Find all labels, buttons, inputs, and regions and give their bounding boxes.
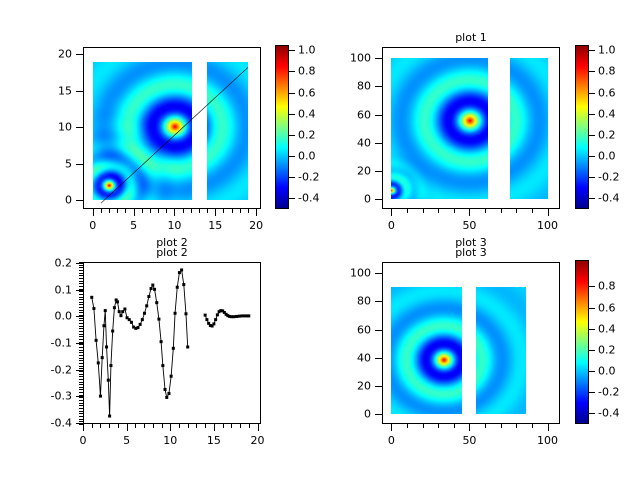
colorbar-tick <box>589 93 595 94</box>
data-point-marker <box>232 315 235 318</box>
data-point-marker <box>118 310 121 313</box>
subplot-plot-bottomleft: plot 205101520-0.4-0.3-0.2-0.10.00.10.2 <box>83 262 261 424</box>
data-point-marker <box>160 340 163 343</box>
colorbar-tick <box>589 156 595 157</box>
y-tick-label: -0.4 <box>32 416 72 429</box>
y-minor-tick <box>79 344 83 345</box>
x-tick <box>258 424 259 431</box>
data-point-marker <box>141 318 144 321</box>
colorbar-tick <box>589 413 595 414</box>
data-point-marker <box>97 361 100 364</box>
line-path <box>92 270 188 416</box>
x-minor-tick <box>109 424 110 428</box>
colorbar-tick-label: 0.0 <box>598 365 616 378</box>
y-minor-tick <box>79 289 83 290</box>
data-point-marker <box>155 301 158 304</box>
colorbar-gradient <box>276 46 288 208</box>
y-minor-tick <box>79 350 83 351</box>
x-minor-tick <box>179 424 180 428</box>
data-point-marker <box>107 379 110 382</box>
y-minor-tick <box>79 334 83 335</box>
colorbar-tick-label: 0.8 <box>598 280 616 293</box>
x-minor-tick <box>166 209 167 213</box>
y-tick-label: 5 <box>32 157 72 170</box>
data-point-marker <box>128 318 131 321</box>
x-minor-tick <box>516 424 517 428</box>
x-tick <box>256 209 257 216</box>
colorbar-gradient <box>576 261 588 423</box>
data-point-marker <box>212 322 215 325</box>
heatmap-image <box>391 287 462 414</box>
data-point-marker <box>172 347 175 350</box>
y-tick-label: -0.2 <box>32 363 72 376</box>
y-tick <box>375 301 382 302</box>
y-minor-tick <box>79 302 83 303</box>
y-minor-tick <box>79 376 83 377</box>
y-minor-tick <box>79 297 83 298</box>
x-minor-tick <box>501 424 502 428</box>
x-tick <box>391 424 392 431</box>
y-minor-tick <box>79 336 83 337</box>
data-point-marker <box>92 307 95 310</box>
y-minor-tick <box>79 304 83 305</box>
y-minor-tick <box>79 363 83 364</box>
data-point-marker <box>102 324 105 327</box>
x-minor-tick <box>196 424 197 428</box>
y-minor-tick <box>79 286 83 287</box>
y-tick-label: -0.1 <box>32 337 72 350</box>
data-point-marker <box>205 318 208 321</box>
y-minor-tick <box>79 326 83 327</box>
y-tick <box>375 386 382 387</box>
colorbar-tick <box>289 71 295 72</box>
colorbar-tick-label: 1.0 <box>598 44 616 57</box>
y-tick <box>76 200 83 201</box>
colorbar-tick <box>589 329 595 330</box>
data-point-marker <box>153 288 156 291</box>
x-minor-tick <box>125 209 126 213</box>
y-tick-label: 20 <box>331 164 371 177</box>
x-tick-label: 5 <box>130 219 137 232</box>
colorbar-tick-label: 0.6 <box>598 86 616 99</box>
colorbar-tick-label: -0.2 <box>298 171 319 184</box>
data-point-marker <box>170 375 173 378</box>
y-tick <box>375 86 382 87</box>
y-minor-tick <box>79 405 83 406</box>
data-point-marker <box>130 321 133 324</box>
data-point-marker <box>174 312 177 315</box>
colorbar-tick <box>589 198 595 199</box>
x-minor-tick <box>249 424 250 428</box>
data-point-marker <box>164 388 167 391</box>
x-minor-tick <box>407 209 408 213</box>
x-minor-tick <box>191 209 192 213</box>
diagonal-overlay-line <box>83 47 261 209</box>
colorbar-tick-label: 0.2 <box>598 343 616 356</box>
y-minor-tick <box>79 389 83 390</box>
x-minor-tick <box>205 424 206 428</box>
y-tick-label: 0.1 <box>32 283 72 296</box>
colorbar-tick-label: 0.8 <box>598 65 616 78</box>
x-minor-tick <box>153 424 154 428</box>
y-minor-tick <box>79 281 83 282</box>
heatmap-patch <box>391 58 488 199</box>
y-minor-tick <box>79 265 83 266</box>
colorbar-tick <box>589 177 595 178</box>
y-minor-tick <box>79 360 83 361</box>
y-minor-tick <box>79 299 83 300</box>
y-minor-tick <box>79 315 83 316</box>
y-tick <box>76 164 83 165</box>
x-tick-label: 5 <box>123 434 130 447</box>
y-minor-tick <box>79 424 83 425</box>
x-tick-label: 20 <box>249 219 263 232</box>
data-point-marker <box>90 296 93 299</box>
data-point-marker <box>186 345 189 348</box>
y-minor-tick <box>79 368 83 369</box>
y-minor-tick <box>79 387 83 388</box>
x-minor-tick <box>183 209 184 213</box>
data-point-marker <box>230 315 233 318</box>
data-point-marker <box>136 326 139 329</box>
x-tick <box>174 209 175 216</box>
y-minor-tick <box>79 318 83 319</box>
x-tick <box>214 424 215 431</box>
colorbar-tick <box>589 308 595 309</box>
data-point-marker <box>123 308 126 311</box>
x-minor-tick <box>144 424 145 428</box>
heatmap-image <box>476 287 525 414</box>
x-minor-tick <box>117 209 118 213</box>
colorbar-tick-label: 0.2 <box>298 128 316 141</box>
y-minor-tick <box>79 283 83 284</box>
x-minor-tick <box>248 209 249 213</box>
heatmap-patch <box>391 287 462 414</box>
colorbar-tick <box>289 114 295 115</box>
data-point-marker <box>145 304 148 307</box>
data-point-marker <box>147 295 150 298</box>
y-minor-tick <box>79 307 83 308</box>
y-minor-tick <box>79 403 83 404</box>
x-tick-label: 20 <box>251 434 265 447</box>
x-minor-tick <box>158 209 159 213</box>
y-minor-tick <box>79 267 83 268</box>
data-point-marker <box>178 271 181 274</box>
colorbar <box>575 45 589 209</box>
y-minor-tick <box>79 366 83 367</box>
y-tick-label: -0.3 <box>32 390 72 403</box>
colorbar-tick <box>589 371 595 372</box>
y-tick <box>375 115 382 116</box>
data-point-marker <box>104 309 107 312</box>
y-tick-label: 20 <box>32 48 72 61</box>
colorbar <box>275 45 289 209</box>
colorbar-tick <box>289 198 295 199</box>
y-tick-label: 80 <box>331 80 371 93</box>
y-tick-label: 100 <box>331 267 371 280</box>
y-minor-tick <box>79 294 83 295</box>
y-minor-tick <box>79 352 83 353</box>
y-minor-tick <box>79 411 83 412</box>
data-point-marker <box>204 314 207 317</box>
x-tick <box>469 209 470 216</box>
x-minor-tick <box>407 424 408 428</box>
y-tick-label: 0 <box>331 408 371 421</box>
y-minor-tick <box>79 419 83 420</box>
x-tick-label: 0 <box>89 219 96 232</box>
y-tick-label: 10 <box>32 121 72 134</box>
x-tick <box>93 209 94 216</box>
data-point-marker <box>95 339 98 342</box>
colorbar <box>575 260 589 424</box>
colorbar-tick-label: 1.0 <box>298 44 316 57</box>
data-point-marker <box>150 287 153 290</box>
colorbar-tick <box>589 71 595 72</box>
colorbar-tick <box>289 177 295 178</box>
y-tick <box>375 273 382 274</box>
data-point-marker <box>180 268 183 271</box>
x-minor-tick <box>240 424 241 428</box>
y-tick-label: 15 <box>32 84 72 97</box>
x-tick-label: 10 <box>163 434 177 447</box>
y-minor-tick <box>79 392 83 393</box>
data-point-marker <box>151 284 154 287</box>
line-series-group <box>83 262 261 424</box>
colorbar-tick <box>589 50 595 51</box>
y-tick <box>375 358 382 359</box>
data-point-marker <box>116 300 119 303</box>
y-minor-tick <box>79 275 83 276</box>
y-minor-tick <box>79 323 83 324</box>
y-minor-tick <box>79 374 83 375</box>
data-point-marker <box>139 323 142 326</box>
x-minor-tick <box>232 209 233 213</box>
data-point-marker <box>121 310 124 313</box>
data-point-marker <box>182 283 185 286</box>
y-minor-tick <box>79 355 83 356</box>
y-tick <box>76 91 83 92</box>
x-tick-label: 100 <box>537 219 558 232</box>
colorbar-tick-label: -0.4 <box>598 192 619 205</box>
x-tick <box>548 209 549 216</box>
subplot-plot-topright: plot 1050100020406080100plot 3 <box>382 47 560 209</box>
x-minor-tick <box>162 424 163 428</box>
y-tick-label: 60 <box>331 108 371 121</box>
colorbar-tick-label: 0.6 <box>598 301 616 314</box>
colorbar-tick-label: 0.4 <box>298 107 316 120</box>
colorbar-tick-label: -0.2 <box>598 386 619 399</box>
x-tick-label: 100 <box>537 434 558 447</box>
x-minor-tick <box>240 209 241 213</box>
x-tick <box>127 424 128 431</box>
heatmap-image <box>510 58 547 199</box>
plot-title: plot 3 <box>382 246 560 259</box>
x-minor-tick <box>109 209 110 213</box>
y-tick <box>375 199 382 200</box>
plot-title: plot 2 <box>83 246 261 259</box>
x-minor-tick <box>485 424 486 428</box>
y-minor-tick <box>79 278 83 279</box>
colorbar-tick-label: -0.4 <box>598 407 619 420</box>
data-point-marker <box>101 356 104 359</box>
colorbar-tick <box>289 50 295 51</box>
colorbar-tick-label: 0.0 <box>598 150 616 163</box>
x-minor-tick <box>231 424 232 428</box>
y-minor-tick <box>79 382 83 383</box>
x-tick <box>548 424 549 431</box>
y-tick <box>76 54 83 55</box>
data-point-marker <box>143 312 146 315</box>
data-point-marker <box>167 392 170 395</box>
y-tick-label: 20 <box>331 379 371 392</box>
y-minor-tick <box>79 421 83 422</box>
data-point-marker <box>214 318 217 321</box>
y-minor-tick <box>79 342 83 343</box>
y-minor-tick <box>79 408 83 409</box>
data-point-marker <box>235 315 238 318</box>
x-tick <box>83 424 84 431</box>
colorbar-tick-label: 0.0 <box>298 150 316 163</box>
y-minor-tick <box>79 262 83 263</box>
y-tick <box>375 414 382 415</box>
x-tick <box>391 209 392 216</box>
data-point-marker <box>157 318 160 321</box>
heatmap-image <box>391 58 488 199</box>
colorbar-tick-label: -0.2 <box>598 171 619 184</box>
x-minor-tick <box>501 209 502 213</box>
x-tick-label: 10 <box>167 219 181 232</box>
colorbar-tick <box>289 135 295 136</box>
x-minor-tick <box>532 424 533 428</box>
x-minor-tick <box>532 209 533 213</box>
y-tick <box>375 171 382 172</box>
data-point-marker <box>161 364 164 367</box>
y-minor-tick <box>79 273 83 274</box>
y-tick-label: 100 <box>331 52 371 65</box>
y-tick-label: 0 <box>331 193 371 206</box>
x-tick-label: 15 <box>207 434 221 447</box>
colorbar-tick-label: 0.2 <box>598 128 616 141</box>
colorbar-tick <box>589 135 595 136</box>
x-minor-tick <box>135 424 136 428</box>
x-minor-tick <box>100 424 101 428</box>
y-tick-label: 0 <box>32 194 72 207</box>
x-minor-tick <box>207 209 208 213</box>
y-minor-tick <box>79 395 83 396</box>
x-minor-tick <box>118 424 119 428</box>
colorbar-tick <box>589 392 595 393</box>
y-minor-tick <box>79 270 83 271</box>
x-tick-label: 15 <box>208 219 222 232</box>
data-point-marker <box>165 396 168 399</box>
y-tick-label: 40 <box>331 136 371 149</box>
data-point-marker <box>108 415 111 418</box>
x-minor-tick <box>438 209 439 213</box>
figure-canvas: 0510152005101520plot 2-0.4-0.20.00.20.40… <box>0 0 640 480</box>
y-tick-label: 40 <box>331 351 371 364</box>
data-point-marker <box>243 314 246 317</box>
data-point-marker <box>105 345 108 348</box>
y-minor-tick <box>79 331 83 332</box>
subplot-plot-bottomright: plot 3050100020406080100 <box>382 262 560 424</box>
y-tick <box>76 127 83 128</box>
heatmap-patch <box>476 287 525 414</box>
colorbar-tick <box>289 93 295 94</box>
x-minor-tick <box>92 424 93 428</box>
x-tick <box>170 424 171 431</box>
colorbar-tick-label: 0.4 <box>598 107 616 120</box>
colorbar-tick-label: 0.8 <box>298 65 316 78</box>
data-point-marker <box>247 314 250 317</box>
y-minor-tick <box>79 413 83 414</box>
y-minor-tick <box>79 312 83 313</box>
subplot-plot-topleft: 0510152005101520plot 2 <box>83 47 261 209</box>
x-minor-tick <box>454 209 455 213</box>
x-tick <box>469 424 470 431</box>
x-minor-tick <box>223 209 224 213</box>
data-point-marker <box>119 314 122 317</box>
data-point-marker <box>176 286 179 289</box>
colorbar-tick <box>289 156 295 157</box>
colorbar-tick-label: -0.4 <box>298 192 319 205</box>
colorbar-tick <box>589 114 595 115</box>
plot-title: plot 1 <box>382 31 560 44</box>
colorbar-tick-label: 0.4 <box>598 322 616 335</box>
y-tick-label: 0.0 <box>32 310 72 323</box>
colorbar-tick-label: 0.6 <box>298 86 316 99</box>
y-minor-tick <box>79 291 83 292</box>
y-minor-tick <box>79 400 83 401</box>
x-tick-label: 50 <box>462 219 476 232</box>
x-minor-tick <box>423 424 424 428</box>
colorbar-tick <box>589 286 595 287</box>
x-minor-tick <box>150 209 151 213</box>
x-tick-label: 0 <box>80 434 87 447</box>
colorbar-tick <box>589 350 595 351</box>
y-tick <box>375 143 382 144</box>
data-point-marker <box>99 395 102 398</box>
data-point-marker <box>184 312 187 315</box>
x-minor-tick <box>438 424 439 428</box>
y-tick <box>375 330 382 331</box>
y-minor-tick <box>79 397 83 398</box>
data-point-marker <box>111 330 114 333</box>
y-tick-label: 0.2 <box>32 257 72 270</box>
x-minor-tick <box>423 209 424 213</box>
x-minor-tick <box>454 424 455 428</box>
y-minor-tick <box>79 328 83 329</box>
data-point-marker <box>240 314 243 317</box>
x-minor-tick <box>142 209 143 213</box>
y-minor-tick <box>79 358 83 359</box>
y-tick-label: 80 <box>331 295 371 308</box>
y-minor-tick <box>79 384 83 385</box>
colorbar-gradient <box>576 46 588 208</box>
x-tick-label: 50 <box>462 434 476 447</box>
x-tick-label: 0 <box>388 219 395 232</box>
y-minor-tick <box>79 339 83 340</box>
x-minor-tick <box>516 209 517 213</box>
y-minor-tick <box>79 347 83 348</box>
y-minor-tick <box>79 416 83 417</box>
x-tick <box>134 209 135 216</box>
x-minor-tick <box>199 209 200 213</box>
x-minor-tick <box>101 209 102 213</box>
y-tick <box>375 58 382 59</box>
data-point-marker <box>109 364 112 367</box>
heatmap-patch <box>510 58 547 199</box>
x-minor-tick <box>485 209 486 213</box>
